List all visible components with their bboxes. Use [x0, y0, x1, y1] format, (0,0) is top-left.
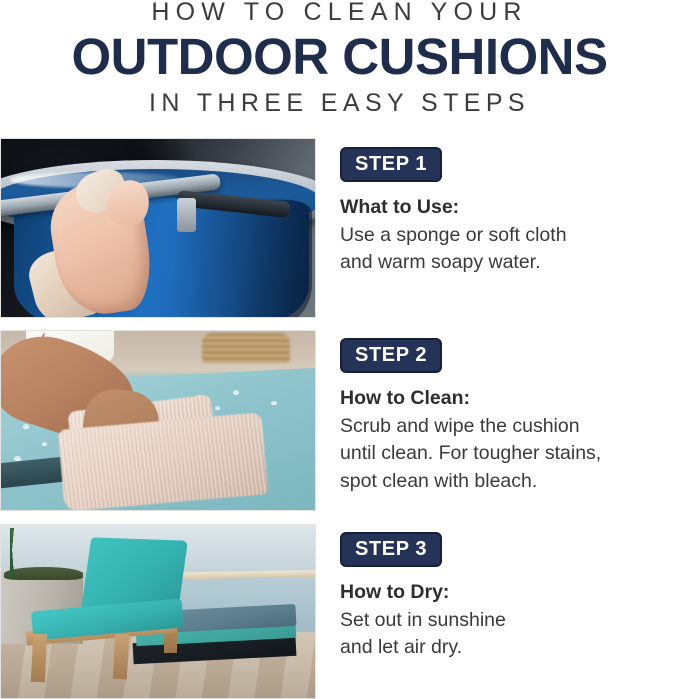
header: HOW TO CLEAN YOUR OUTDOOR CUSHIONS IN TH…	[0, 0, 679, 132]
step-1-badge: STEP 1	[340, 147, 442, 182]
water-drop	[215, 406, 220, 410]
step-3-line-2: and let air dry.	[340, 634, 679, 662]
step-3-photo	[0, 524, 316, 699]
handle-clip	[177, 198, 196, 232]
step-2-text: How to Clean: Scrub and wipe the cushion…	[340, 385, 679, 495]
step-1-line-2: and warm soapy water.	[340, 249, 679, 277]
step-2-badge: STEP 2	[340, 338, 442, 373]
chaise-leg-mid	[113, 634, 129, 680]
step-2-line-3: spot clean with bleach.	[340, 468, 679, 496]
towel-front	[57, 412, 267, 511]
step-3-copy: STEP 3 How to Dry: Set out in sunshine a…	[340, 524, 679, 699]
wiping-scene	[1, 331, 315, 510]
step-2-copy: STEP 2 How to Clean: Scrub and wipe the …	[340, 330, 679, 511]
lounger-scene	[1, 525, 315, 698]
infographic-page: HOW TO CLEAN YOUR OUTDOOR CUSHIONS IN TH…	[0, 0, 679, 699]
step-3-badge: STEP 3	[340, 532, 442, 567]
step-1-text: What to Use: Use a sponge or soft cloth …	[340, 194, 679, 277]
step-3-line-1: Set out in sunshine	[340, 607, 679, 635]
step-2-heading: How to Clean:	[340, 385, 679, 413]
step-2-line-2: until clean. For tougher stains,	[340, 440, 679, 468]
step-3-text: How to Dry: Set out in sunshine and let …	[340, 579, 679, 662]
step-row-2: STEP 2 How to Clean: Scrub and wipe the …	[0, 330, 679, 511]
step-1-badge-wrap: STEP 1	[340, 147, 442, 182]
step-1-line-1: Use a sponge or soft cloth	[340, 222, 679, 250]
step-2-badge-wrap: STEP 2	[340, 338, 442, 373]
step-row-3: STEP 3 How to Dry: Set out in sunshine a…	[0, 524, 679, 699]
water-drop	[14, 456, 21, 461]
step-1-photo	[0, 138, 316, 318]
step-3-heading: How to Dry:	[340, 579, 679, 607]
step-2-photo	[0, 330, 316, 511]
step-1-copy: STEP 1 What to Use: Use a sponge or soft…	[340, 138, 679, 318]
header-eyebrow: HOW TO CLEAN YOUR	[0, 0, 679, 27]
water-drop	[42, 442, 47, 446]
page-title: OUTDOOR CUSHIONS	[0, 28, 679, 86]
step-row-1: STEP 1 What to Use: Use a sponge or soft…	[0, 138, 679, 318]
bucket-scene	[1, 139, 315, 317]
step-2-line-1: Scrub and wipe the cushion	[340, 413, 679, 441]
step-1-heading: What to Use:	[340, 194, 679, 222]
water-drop	[271, 401, 277, 405]
wicker-basket	[202, 333, 290, 363]
header-subtitle: IN THREE EASY STEPS	[0, 88, 679, 118]
step-3-badge-wrap: STEP 3	[340, 532, 442, 567]
agave-plant	[10, 528, 79, 576]
